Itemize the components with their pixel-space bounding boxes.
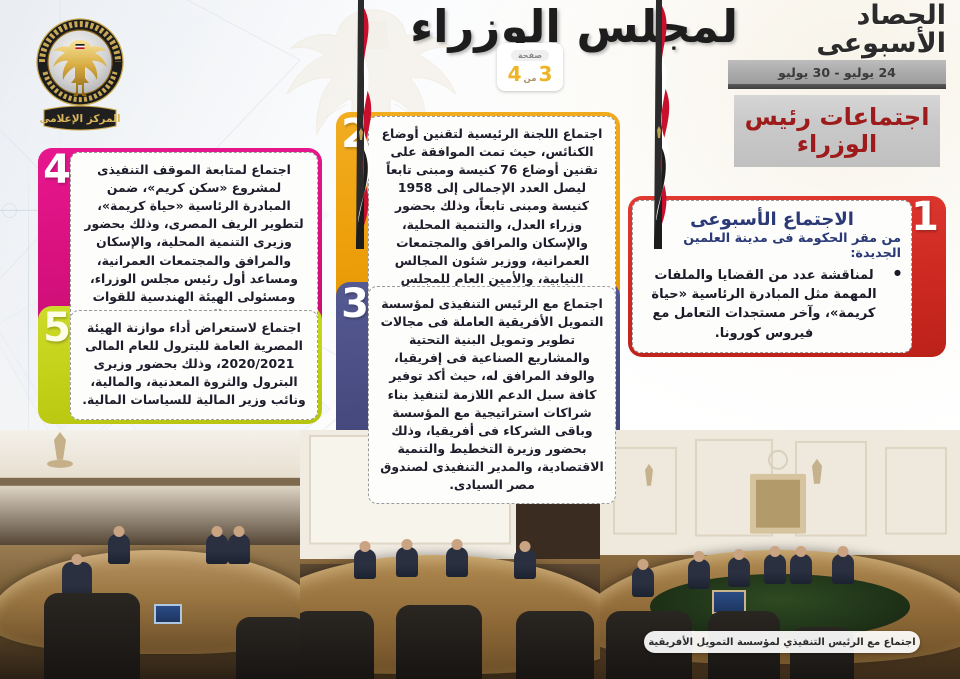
section-banner-label: اجتماعات رئيس الوزراء — [734, 104, 940, 158]
card-1-bullet-list: لمناقشة عدد من القضايا والملفات المهمة م… — [643, 266, 901, 343]
date-range-label: 24 يوليو - 30 يوليو — [778, 65, 896, 80]
card-1-number: 1 — [908, 197, 942, 237]
photo-caption-1-label: اجتماع مع الرئيس التنفيذي لمؤسسة التمويل… — [648, 637, 915, 648]
card-1-content: الاجتماع الأسبوعى من مقر الحكومة فى مدين… — [632, 200, 912, 353]
card-3-number: 3 — [338, 284, 372, 324]
photo-weekly-meeting-new-alamein: الاجتماع الأسبوعي بمدينة العلمين الجديدة — [0, 430, 300, 679]
title-line-1: الحصاد — [816, 2, 946, 30]
photo-african-finance-ceo-meeting: اجتماع مع الرئيس التنفيذي لمؤسسة التمويل… — [600, 430, 960, 679]
section-banner: اجتماعات رئيس الوزراء — [734, 95, 940, 167]
page-badge-current: 3 — [538, 62, 552, 86]
page-number-badge: صفحة 3 من 4 — [497, 43, 563, 91]
infographic-page: المركز الإعلامى الحصاد الأسبوعى لمجلس ال… — [0, 0, 960, 679]
page-title: الحصاد الأسبوعى — [816, 2, 946, 57]
page-badge-label: صفحة — [511, 50, 549, 62]
card-2-number: 2 — [338, 114, 372, 154]
title-line-2: الأسبوعى — [816, 30, 946, 58]
page-badge-numbers: 3 من 4 — [508, 62, 553, 86]
card-1-subtitle: من مقر الحكومة فى مدينة العلمين الجديدة: — [643, 231, 901, 261]
card-1-title: الاجتماع الأسبوعى — [643, 209, 901, 230]
card-1-bullet-item: لمناقشة عدد من القضايا والملفات المهمة م… — [643, 266, 901, 343]
card-1-weekly-meeting: 1 الاجتماع الأسبوعى من مقر الحكومة فى مد… — [628, 196, 946, 357]
svg-text:المركز الإعلامى: المركز الإعلامى — [39, 113, 120, 125]
card-5-petroleum-budget: 5 اجتماع لاستعراض أداء موازنة الهيئة الم… — [38, 306, 322, 424]
main-title: لمجلس الوزراء — [410, 0, 738, 53]
photo-caption-1: اجتماع مع الرئيس التنفيذي لمؤسسة التمويل… — [644, 631, 920, 653]
card-4-body: اجتماع لمتابعة الموقف التنفيذى لمشروع «س… — [81, 161, 307, 324]
date-range-bar: 24 يوليو - 30 يوليو — [728, 60, 946, 84]
card-5-content: اجتماع لاستعراض أداء موازنة الهيئة المصر… — [70, 310, 318, 420]
card-5-number: 5 — [40, 308, 74, 348]
card-4-content: اجتماع لمتابعة الموقف التنفيذى لمشروع «س… — [70, 152, 318, 334]
page-badge-total: 4 — [508, 62, 522, 86]
card-5-body: اجتماع لاستعراض أداء موازنة الهيئة المصر… — [81, 319, 307, 410]
egypt-cabinet-media-center-logo: المركز الإعلامى — [28, 6, 132, 138]
header-dark-strip — [728, 84, 946, 89]
page-badge-of: من — [524, 74, 537, 84]
meeting-room-scene-3 — [0, 430, 300, 679]
card-3-body: اجتماع مع الرئيس التنفيذى لمؤسسة التمويل… — [379, 295, 605, 494]
card-4-number: 4 — [40, 150, 74, 190]
card-3-content: اجتماع مع الرئيس التنفيذى لمؤسسة التمويل… — [368, 286, 616, 504]
card-3-african-finance: 3 اجتماع مع الرئيس التنفيذى لمؤسسة التمو… — [336, 282, 620, 508]
